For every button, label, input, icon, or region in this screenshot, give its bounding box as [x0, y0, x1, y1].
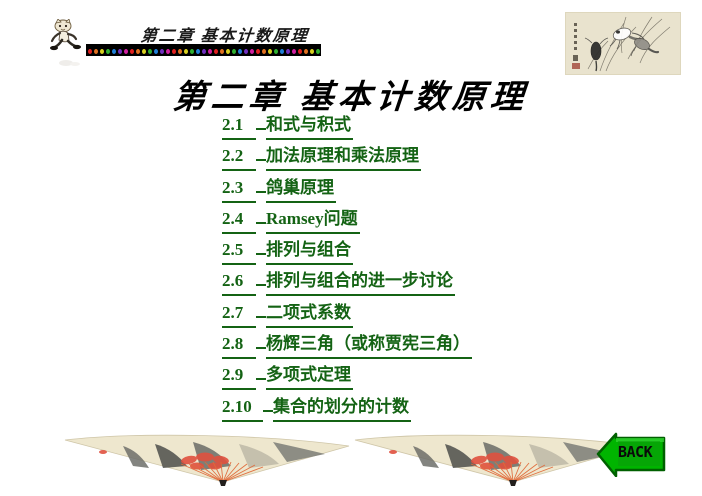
slide-canvas: 第二章 基本计数原理: [0, 0, 702, 496]
header-dot: [136, 49, 140, 54]
header-dot: [172, 49, 176, 54]
toc-item-2-6[interactable]: 2.6排列与组合的进一步讨论: [222, 268, 642, 299]
toc-item-spacer: [256, 127, 266, 130]
toc-item-number: 2.7: [222, 300, 256, 328]
toc-item-2-3[interactable]: 2.3鸽巢原理: [222, 175, 642, 206]
chapter-toc-list: 2.1和式与积式2.2加法原理和乘法原理2.3鸽巢原理2.4Ramsey问题2.…: [222, 112, 642, 425]
header-dot: [286, 49, 290, 54]
header-dot: [94, 49, 98, 54]
toc-item-spacer: [256, 315, 266, 318]
header-dot: [220, 49, 224, 54]
header-dot: [154, 49, 158, 54]
toc-item-label: Ramsey问题: [266, 206, 360, 234]
header-dot: [184, 49, 188, 54]
header-dot: [100, 49, 104, 54]
header-dot: [280, 49, 284, 54]
toc-item-2-10[interactable]: 2.10集合的划分的计数: [222, 394, 642, 425]
toc-item-label: 排列与组合的进一步讨论: [266, 268, 455, 296]
toc-item-2-5[interactable]: 2.5排列与组合: [222, 237, 642, 268]
runner-shadow-artifact: [56, 57, 82, 69]
back-arrow-icon: [596, 432, 668, 477]
header-dot: [262, 49, 266, 54]
toc-item-spacer: [256, 190, 266, 193]
toc-item-number: 2.10: [222, 394, 263, 422]
toc-item-spacer: [256, 377, 266, 380]
toc-item-number: 2.1: [222, 112, 256, 140]
toc-item-2-7[interactable]: 2.7二项式系数: [222, 300, 642, 331]
toc-item-number: 2.5: [222, 237, 256, 265]
header-dot: [118, 49, 122, 54]
page-title: 第二章 基本计数原理: [0, 70, 702, 118]
header-dot: [256, 49, 260, 54]
toc-item-label: 和式与积式: [266, 112, 353, 140]
toc-item-label: 多项式定理: [266, 362, 353, 390]
header-dot: [274, 49, 278, 54]
header-dot: [268, 49, 272, 54]
header-dot: [178, 49, 182, 54]
toc-item-number: 2.4: [222, 206, 256, 234]
header-dot: [130, 49, 134, 54]
toc-item-spacer: [256, 346, 266, 349]
toc-item-spacer: [256, 158, 266, 161]
toc-item-spacer: [256, 252, 266, 255]
toc-item-label: 排列与组合: [266, 237, 353, 265]
shrimp-ink-painting: [566, 13, 680, 74]
toc-item-spacer: [256, 221, 266, 224]
header-dot: [160, 49, 164, 54]
header-dot: [292, 49, 296, 54]
toc-item-label: 杨辉三角（或称贾宪三角）: [266, 331, 472, 359]
header-dot: [106, 49, 110, 54]
header-dot: [112, 49, 116, 54]
header-dot: [166, 49, 170, 54]
header-dot: [124, 49, 128, 54]
header-dot: [142, 49, 146, 54]
toc-item-number: 2.3: [222, 175, 256, 203]
toc-item-spacer: [256, 283, 266, 286]
toc-item-label: 二项式系数: [266, 300, 353, 328]
header-dot: [226, 49, 230, 54]
toc-item-number: 2.8: [222, 331, 256, 359]
header-dot: [304, 49, 308, 54]
header-dot: [196, 49, 200, 54]
back-button[interactable]: BACK: [596, 432, 668, 477]
toc-item-2-9[interactable]: 2.9多项式定理: [222, 362, 642, 393]
header-dot: [202, 49, 206, 54]
toc-item-label: 鸽巢原理: [266, 175, 336, 203]
toc-item-2-8[interactable]: 2.8杨辉三角（或称贾宪三角）: [222, 331, 642, 362]
header-dot: [298, 49, 302, 54]
toc-item-2-1[interactable]: 2.1和式与积式: [222, 112, 642, 143]
header-dot: [310, 49, 314, 54]
toc-item-number: 2.9: [222, 362, 256, 390]
header-dot: [238, 49, 242, 54]
header-dot: [214, 49, 218, 54]
header-dot: [232, 49, 236, 54]
toc-item-number: 2.6: [222, 268, 256, 296]
header-dot: [208, 49, 212, 54]
folding-fan-decoration-left: [63, 424, 353, 486]
header-title: 第二章 基本计数原理: [99, 22, 352, 46]
header-color-dot-bar: [86, 47, 321, 56]
toc-item-label: 加法原理和乘法原理: [266, 143, 421, 171]
header-dot: [190, 49, 194, 54]
header-dot: [244, 49, 248, 54]
header-dot: [148, 49, 152, 54]
toc-item-2-2[interactable]: 2.2加法原理和乘法原理: [222, 143, 642, 174]
toc-item-label: 集合的划分的计数: [273, 394, 411, 422]
running-figure-icon: [47, 19, 87, 55]
header-dot: [88, 49, 92, 54]
header-dot: [250, 49, 254, 54]
toc-item-number: 2.2: [222, 143, 256, 171]
toc-item-spacer: [263, 409, 273, 412]
toc-item-2-4[interactable]: 2.4Ramsey问题: [222, 206, 642, 237]
header-dot: [316, 49, 320, 54]
